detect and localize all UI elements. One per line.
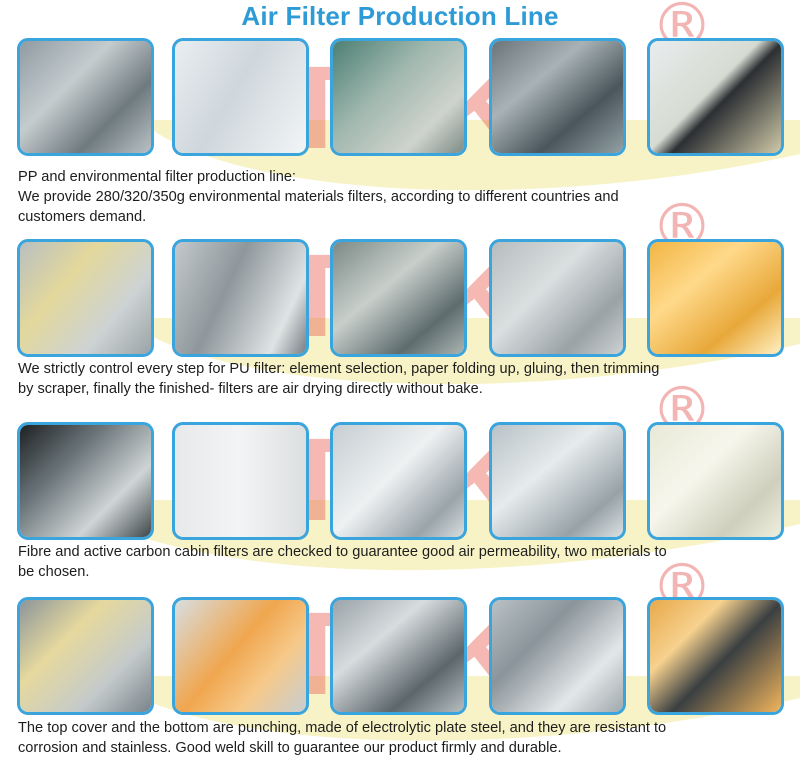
thumbnail-strip xyxy=(0,38,800,158)
caption-line: by scraper, finally the finished- filter… xyxy=(18,380,786,400)
caption-line: The top cover and the bottom are punchin… xyxy=(18,719,786,739)
thumbnail-image xyxy=(175,425,306,537)
thumbnail-4-4[interactable] xyxy=(489,597,626,715)
thumbnail-1-4[interactable] xyxy=(489,38,626,156)
caption-pp-environmental: PP and environmental filter production l… xyxy=(18,168,786,228)
thumbnail-2-2[interactable] xyxy=(172,239,309,357)
thumbnail-image xyxy=(492,425,623,537)
thumbnail-image xyxy=(175,242,306,354)
thumbnail-image xyxy=(492,242,623,354)
thumbnail-image xyxy=(650,600,781,712)
thumbnail-2-5[interactable] xyxy=(647,239,784,357)
section-pp-environmental xyxy=(0,38,800,158)
thumbnail-3-2[interactable] xyxy=(172,422,309,540)
thumbnail-image xyxy=(20,41,151,153)
thumbnail-image xyxy=(20,242,151,354)
caption-top-cover: The top cover and the bottom are punchin… xyxy=(18,719,786,759)
thumbnail-image xyxy=(650,242,781,354)
thumbnail-image xyxy=(333,425,464,537)
thumbnail-image xyxy=(175,41,306,153)
caption-line: customers demand. xyxy=(18,208,786,228)
thumbnail-2-1[interactable] xyxy=(17,239,154,357)
thumbnail-3-5[interactable] xyxy=(647,422,784,540)
thumbnail-4-1[interactable] xyxy=(17,597,154,715)
thumbnail-image xyxy=(175,600,306,712)
thumbnail-strip xyxy=(0,239,800,359)
thumbnail-3-4[interactable] xyxy=(489,422,626,540)
thumbnail-1-1[interactable] xyxy=(17,38,154,156)
caption-pu-filter: We strictly control every step for PU fi… xyxy=(18,360,786,400)
section-cabin-filter xyxy=(0,422,800,542)
caption-line: Fibre and active carbon cabin filters ar… xyxy=(18,543,786,563)
caption-line: We strictly control every step for PU fi… xyxy=(18,360,786,380)
thumbnail-4-5[interactable] xyxy=(647,597,784,715)
thumbnail-image xyxy=(20,600,151,712)
caption-line: We provide 280/320/350g environmental ma… xyxy=(18,188,786,208)
thumbnail-image xyxy=(650,41,781,153)
thumbnail-strip xyxy=(0,422,800,542)
thumbnail-2-4[interactable] xyxy=(489,239,626,357)
caption-cabin-filter: Fibre and active carbon cabin filters ar… xyxy=(18,543,786,583)
thumbnail-4-3[interactable] xyxy=(330,597,467,715)
caption-line: PP and environmental filter production l… xyxy=(18,168,786,188)
thumbnail-image xyxy=(492,41,623,153)
thumbnail-2-3[interactable] xyxy=(330,239,467,357)
thumbnail-4-2[interactable] xyxy=(172,597,309,715)
thumbnail-image xyxy=(20,425,151,537)
thumbnail-3-3[interactable] xyxy=(330,422,467,540)
caption-line: be chosen. xyxy=(18,563,786,583)
thumbnail-3-1[interactable] xyxy=(17,422,154,540)
thumbnail-image xyxy=(492,600,623,712)
thumbnail-image xyxy=(333,600,464,712)
section-top-cover xyxy=(0,597,800,717)
caption-line: corrosion and stainless. Good weld skill… xyxy=(18,739,786,759)
thumbnail-image xyxy=(333,242,464,354)
thumbnail-1-3[interactable] xyxy=(330,38,467,156)
thumbnail-1-2[interactable] xyxy=(172,38,309,156)
section-pu-filter xyxy=(0,239,800,359)
thumbnail-1-5[interactable] xyxy=(647,38,784,156)
thumbnail-image xyxy=(650,425,781,537)
page-title: Air Filter Production Line xyxy=(0,1,800,32)
document-page: Air Filter Production Line PP and enviro… xyxy=(0,0,800,769)
thumbnail-image xyxy=(333,41,464,153)
thumbnail-strip xyxy=(0,597,800,717)
